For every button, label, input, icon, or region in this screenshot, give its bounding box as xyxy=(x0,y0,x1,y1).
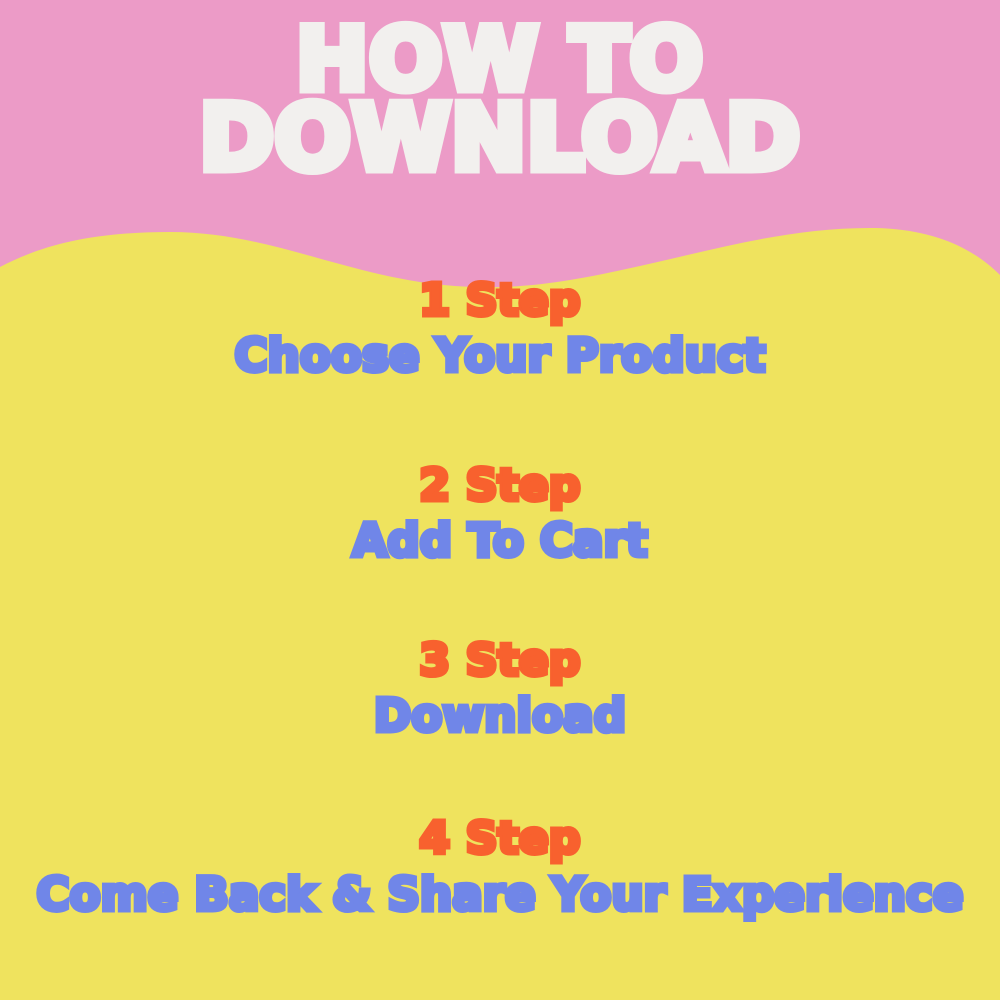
step-item-2: 2 Step Add To Cart xyxy=(0,461,1000,566)
page-title: HOW TO DOWNLOAD xyxy=(0,24,1000,177)
title-line-two: DOWNLOAD xyxy=(0,100,1000,177)
step-2-subtitle: Add To Cart xyxy=(0,516,1000,566)
step-3-subtitle: Download xyxy=(0,691,1000,741)
step-4-heading: 4 Step xyxy=(0,814,1000,863)
how-to-download-poster: HOW TO DOWNLOAD 1 Step Choose Your Produ… xyxy=(0,0,1000,1000)
step-3-heading: 3 Step xyxy=(0,636,1000,685)
step-item-1: 1 Step Choose Your Product xyxy=(0,276,1000,381)
step-2-heading: 2 Step xyxy=(0,461,1000,510)
step-1-heading: 1 Step xyxy=(0,276,1000,325)
steps-list: 1 Step Choose Your Product 2 Step Add To… xyxy=(0,276,1000,919)
step-item-4: 4 Step Come Back & Share Your Experience xyxy=(0,814,1000,919)
step-4-subtitle: Come Back & Share Your Experience xyxy=(0,870,1000,920)
step-1-subtitle: Choose Your Product xyxy=(0,331,1000,381)
step-item-3: 3 Step Download xyxy=(0,636,1000,741)
